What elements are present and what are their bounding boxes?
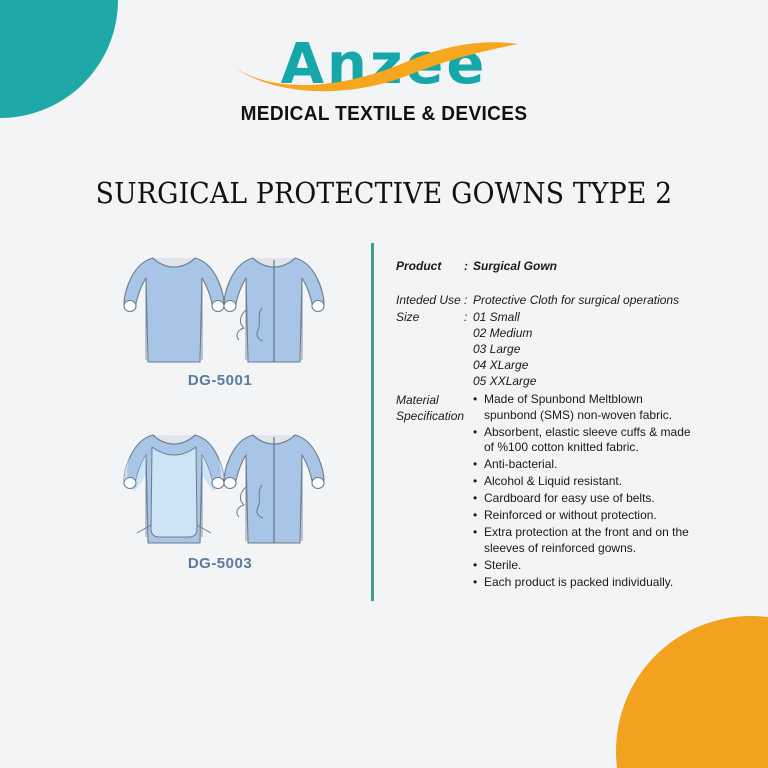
spec-row-size: Size : 01 Small 02 Medium 03 Large 04 XL… xyxy=(396,309,736,389)
figure-code-label: DG-5001 xyxy=(95,372,345,389)
material-bullet-list: Made of Spunbond Meltblown spunbond (SMS… xyxy=(473,392,736,592)
size-item: 04 XLarge xyxy=(473,357,736,373)
size-item: 03 Large xyxy=(473,341,736,357)
gown-illustration-standard xyxy=(115,240,325,370)
material-bullet: Each product is packed individually. xyxy=(473,575,736,591)
spec-row-product: Product : Surgical Gown xyxy=(396,258,736,274)
size-item: 01 Small xyxy=(473,309,736,325)
material-bullet-text: Each product is packed individually. xyxy=(484,575,673,589)
material-bullet: Cardboard for easy use of belts. xyxy=(473,491,736,507)
spec-value-size: 01 Small 02 Medium 03 Large 04 XLarge 05… xyxy=(473,309,736,389)
material-bullet-cont: sleeves of reinforced gowns. xyxy=(484,541,736,557)
brand-tagline: MEDICAL TEXTILE & DEVICES xyxy=(19,103,749,126)
specification-table: Product : Surgical Gown Inteded Use : Pr… xyxy=(396,258,736,592)
page-title: SURGICAL PROTECTIVE GOWNS TYPE 2 xyxy=(31,176,738,210)
figure-dg-5003: DG-5003 xyxy=(95,417,345,572)
spec-separator: : xyxy=(464,258,473,274)
spec-label-size: Size xyxy=(396,309,464,325)
material-bullet-text: Reinforced or without protection. xyxy=(484,508,657,522)
size-item: 05 XXLarge xyxy=(473,373,736,389)
material-bullet-cont: of %100 cotton knitted fabric. xyxy=(484,440,736,456)
corner-decoration-orange xyxy=(616,616,768,768)
spec-separator: : xyxy=(464,292,473,308)
spec-separator: : xyxy=(464,309,473,325)
spec-label-intended-use: Inteded Use xyxy=(396,292,464,308)
logo-mark: Anzee xyxy=(239,34,529,96)
spec-value-product: Surgical Gown xyxy=(473,258,736,274)
spec-label-product: Product xyxy=(396,258,464,274)
content-area: DG-5001 xyxy=(0,240,768,606)
material-bullet-text: Alcohol & Liquid resistant. xyxy=(484,474,622,488)
spec-row-material: Material Specification Made of Spunbond … xyxy=(396,392,736,592)
material-bullet-text: Cardboard for easy use of belts. xyxy=(484,491,655,505)
column-divider xyxy=(371,243,374,601)
material-bullet: Made of Spunbond Meltblown spunbond (SMS… xyxy=(473,392,736,423)
spec-row-intended-use: Inteded Use : Protective Cloth for surgi… xyxy=(396,292,736,308)
material-bullet: Alcohol & Liquid resistant. xyxy=(473,474,736,490)
material-bullet-text: Anti-bacterial. xyxy=(484,457,557,471)
gown-illustration-reinforced xyxy=(115,417,325,553)
spec-label-material: Material Specification xyxy=(396,392,473,424)
spec-value-intended-use: Protective Cloth for surgical operations xyxy=(473,292,736,308)
size-list: 01 Small 02 Medium 03 Large 04 XLarge 05… xyxy=(473,309,736,389)
material-bullet: Sterile. xyxy=(473,558,736,574)
material-bullet-cont: spunbond (SMS) non-woven fabric. xyxy=(484,408,736,424)
material-bullet-text: Extra protection at the front and on the xyxy=(484,525,689,539)
product-figures: DG-5001 xyxy=(95,240,345,572)
brand-logo: Anzee MEDICAL TEXTILE & DEVICES xyxy=(0,34,768,126)
spec-label-material-line2: Specification xyxy=(396,408,473,424)
size-item: 02 Medium xyxy=(473,325,736,341)
material-bullet-text: Made of Spunbond Meltblown xyxy=(484,392,643,406)
figure-dg-5001: DG-5001 xyxy=(95,240,345,389)
material-bullet: Reinforced or without protection. xyxy=(473,508,736,524)
material-bullet-text: Sterile. xyxy=(484,558,521,572)
logo-wordmark: Anzee xyxy=(239,34,529,96)
material-bullet: Extra protection at the front and on the… xyxy=(473,525,736,556)
material-bullet: Absorbent, elastic sleeve cuffs & made o… xyxy=(473,425,736,456)
material-bullet: Anti-bacterial. xyxy=(473,457,736,473)
spec-label-material-line1: Material xyxy=(396,392,473,408)
figure-code-label: DG-5003 xyxy=(95,555,345,572)
product-datasheet: Anzee MEDICAL TEXTILE & DEVICES SURGICAL… xyxy=(0,0,768,768)
material-bullet-text: Absorbent, elastic sleeve cuffs & made xyxy=(484,425,691,439)
